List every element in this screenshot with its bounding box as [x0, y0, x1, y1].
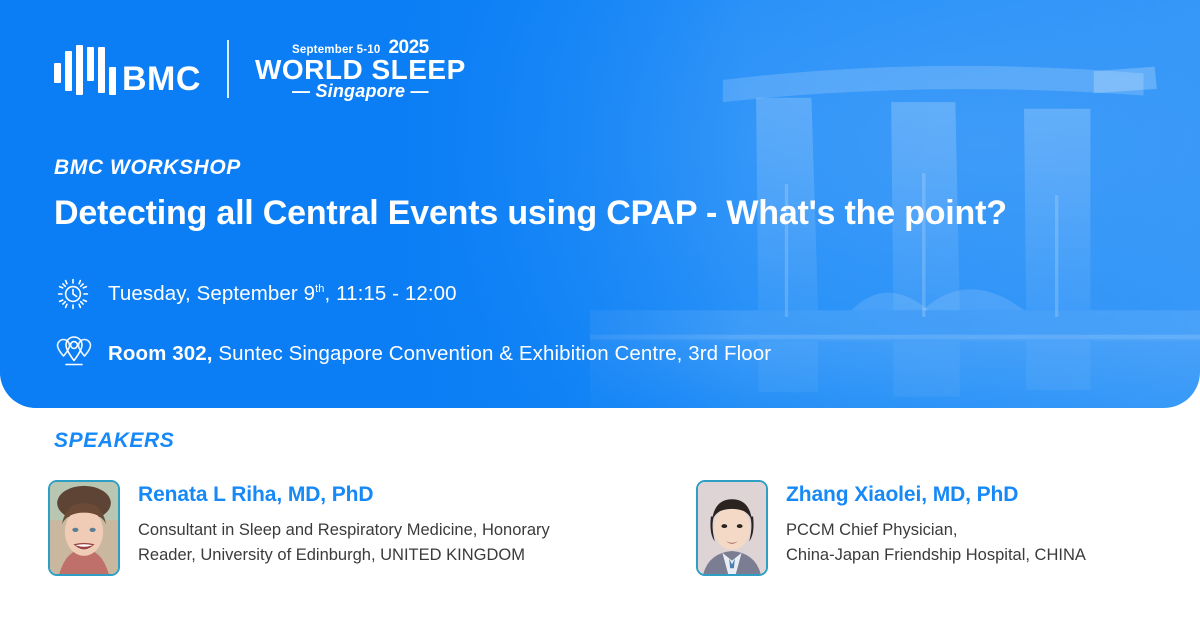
- location-pins-icon: [54, 333, 108, 375]
- world-sleep-city-label: Singapore: [315, 81, 405, 101]
- speaker-role-line-1: PCCM Chief Physician,: [786, 518, 1086, 543]
- bmc-logo: BMC: [54, 43, 201, 95]
- page-title: Detecting all Central Events using CPAP …: [54, 194, 1152, 233]
- speaker-info: Renata L Riha, MD, PhD Consultant in Sle…: [138, 480, 550, 576]
- logo-row: BMC September 5-10 2025 WORLD SLEEP — Si…: [54, 36, 1152, 102]
- speaker-info: Zhang Xiaolei, MD, PhD PCCM Chief Physic…: [786, 480, 1086, 576]
- waveform-bars-icon: [54, 43, 116, 95]
- event-meta: Tuesday, September 9th, 11:15 - 12:00: [54, 275, 1152, 375]
- event-location-text: Room 302, Suntec Singapore Convention & …: [108, 342, 771, 366]
- speaker-card: Zhang Xiaolei, MD, PhD PCCM Chief Physic…: [696, 480, 1166, 576]
- speaker-role: Consultant in Sleep and Respiratory Medi…: [138, 518, 550, 568]
- avatar: [48, 480, 120, 576]
- event-datetime-row: Tuesday, September 9th, 11:15 - 12:00: [54, 275, 1152, 313]
- world-sleep-logo: September 5-10 2025 WORLD SLEEP — Singap…: [255, 39, 466, 100]
- workshop-kicker: BMC WORKSHOP: [54, 156, 1152, 180]
- hero-card: BMC September 5-10 2025 WORLD SLEEP — Si…: [0, 0, 1200, 408]
- speaker-name: Zhang Xiaolei, MD, PhD: [786, 483, 1086, 507]
- event-datetime-text: Tuesday, September 9th, 11:15 - 12:00: [108, 282, 457, 306]
- event-venue: Suntec Singapore Convention & Exhibition…: [213, 342, 772, 365]
- speaker-role-line-2: Reader, University of Edinburgh, UNITED …: [138, 543, 550, 568]
- speaker-card: Renata L Riha, MD, PhD Consultant in Sle…: [48, 480, 696, 576]
- event-room: Room 302,: [108, 342, 213, 365]
- avatar: [696, 480, 768, 576]
- clock-rays-icon: [54, 275, 108, 313]
- speakers-grid: Renata L Riha, MD, PhD Consultant in Sle…: [48, 480, 1200, 576]
- world-sleep-title: WORLD SLEEP: [255, 56, 466, 84]
- speakers-section: SPEAKERS: [0, 408, 1200, 628]
- event-date-ordinal: th: [315, 283, 324, 295]
- speakers-heading: SPEAKERS: [54, 429, 174, 453]
- speaker-role: PCCM Chief Physician, China-Japan Friend…: [786, 518, 1086, 568]
- logo-dash-right: —: [410, 81, 428, 101]
- speaker-role-line-2: China-Japan Friendship Hospital, CHINA: [786, 543, 1086, 568]
- logo-divider: [227, 40, 229, 98]
- speaker-role-line-1: Consultant in Sleep and Respiratory Medi…: [138, 518, 550, 543]
- event-poster: BMC September 5-10 2025 WORLD SLEEP — Si…: [0, 0, 1200, 628]
- bmc-wordmark: BMC: [122, 64, 201, 95]
- logo-dash-left: —: [292, 81, 310, 101]
- speaker-name: Renata L Riha, MD, PhD: [138, 483, 550, 507]
- event-location-row: Room 302, Suntec Singapore Convention & …: [54, 333, 1152, 375]
- event-date: Tuesday, September 9: [108, 282, 315, 305]
- event-time: , 11:15 - 12:00: [325, 282, 457, 305]
